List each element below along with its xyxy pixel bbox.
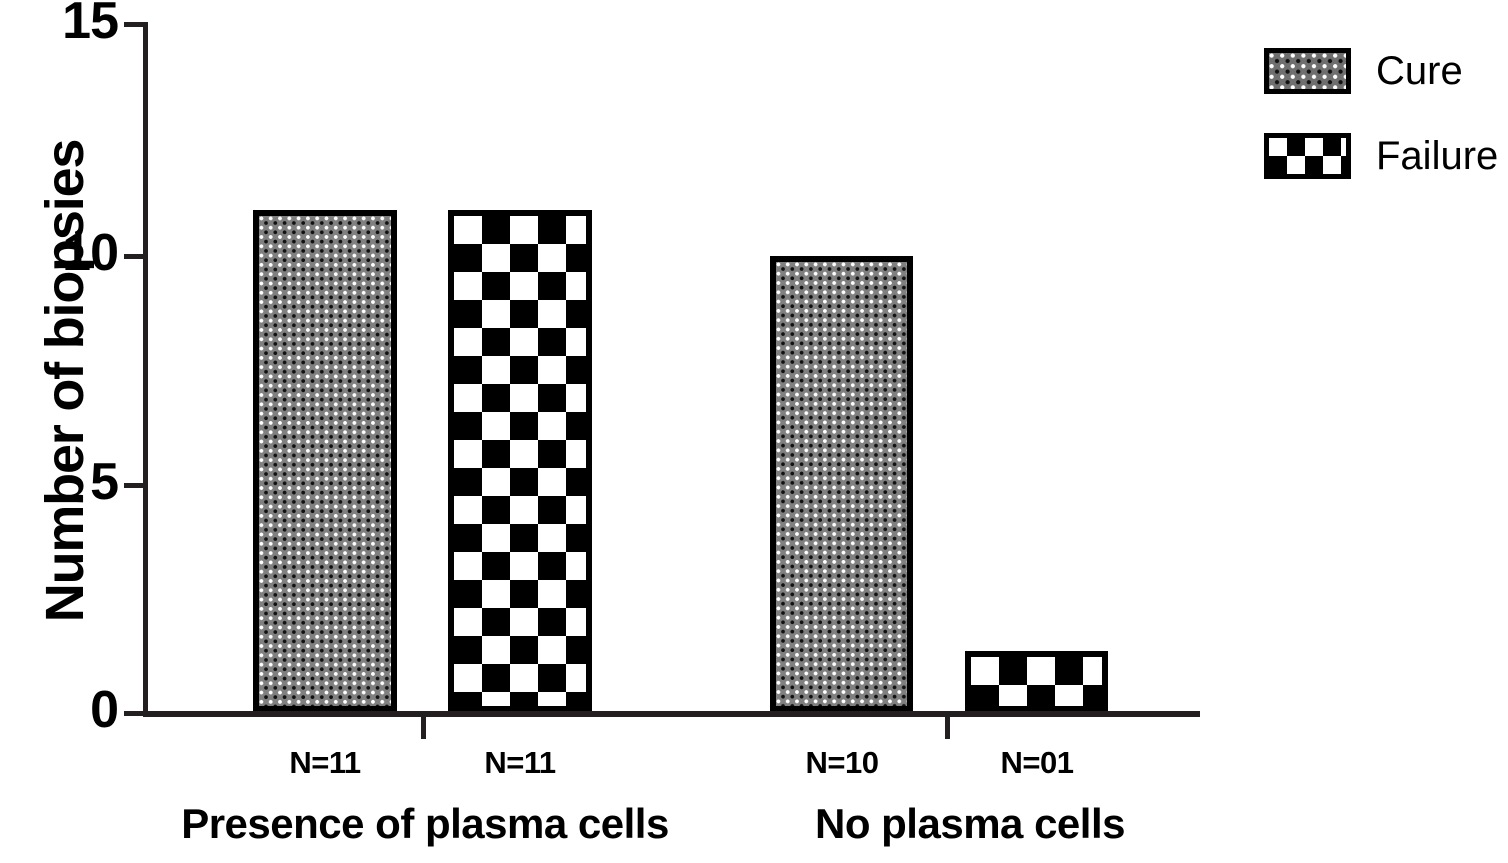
n-label-cure-presence: N=11 (255, 745, 395, 781)
chart-legend: Cure Failure (1264, 44, 1508, 214)
n-label-failure-presence: N=11 (450, 745, 590, 781)
failure-pattern-swatch-icon (1264, 133, 1351, 179)
n-label-failure-no-plasma: N=01 (967, 745, 1107, 781)
y-tick-label-15: 15 (62, 0, 118, 47)
y-tick-0 (124, 711, 144, 716)
bar-failure-no-plasma (965, 651, 1108, 712)
bar-cure-presence (253, 210, 397, 712)
cure-pattern-swatch-icon (1264, 48, 1351, 94)
y-tick-label-5: 5 (90, 456, 118, 508)
legend-label-cure: Cure (1376, 44, 1463, 98)
y-tick-5 (124, 483, 144, 488)
legend-item-cure: Cure (1264, 44, 1508, 129)
x-minor-tick-1 (421, 717, 426, 739)
y-tick-label-0: 0 (90, 684, 118, 736)
group-label-no-plasma: No plasma cells (700, 800, 1240, 848)
y-tick-15 (124, 22, 144, 27)
y-axis-line (143, 22, 148, 716)
n-label-cure-no-plasma: N=10 (772, 745, 912, 781)
bar-failure-presence (448, 210, 592, 712)
y-axis-title: Number of biopsies (34, 31, 96, 731)
group-label-presence: Presence of plasma cells (155, 800, 695, 848)
legend-item-failure: Failure (1264, 129, 1508, 214)
y-tick-10 (124, 254, 144, 259)
x-minor-tick-2 (945, 717, 950, 739)
bar-chart: Number of biopsies 15 10 5 0 N=11 N=11 N… (0, 0, 1508, 863)
bar-cure-no-plasma (770, 256, 913, 712)
legend-label-failure: Failure (1376, 129, 1498, 183)
y-tick-label-10: 10 (62, 227, 118, 279)
x-axis-line (143, 711, 1200, 717)
